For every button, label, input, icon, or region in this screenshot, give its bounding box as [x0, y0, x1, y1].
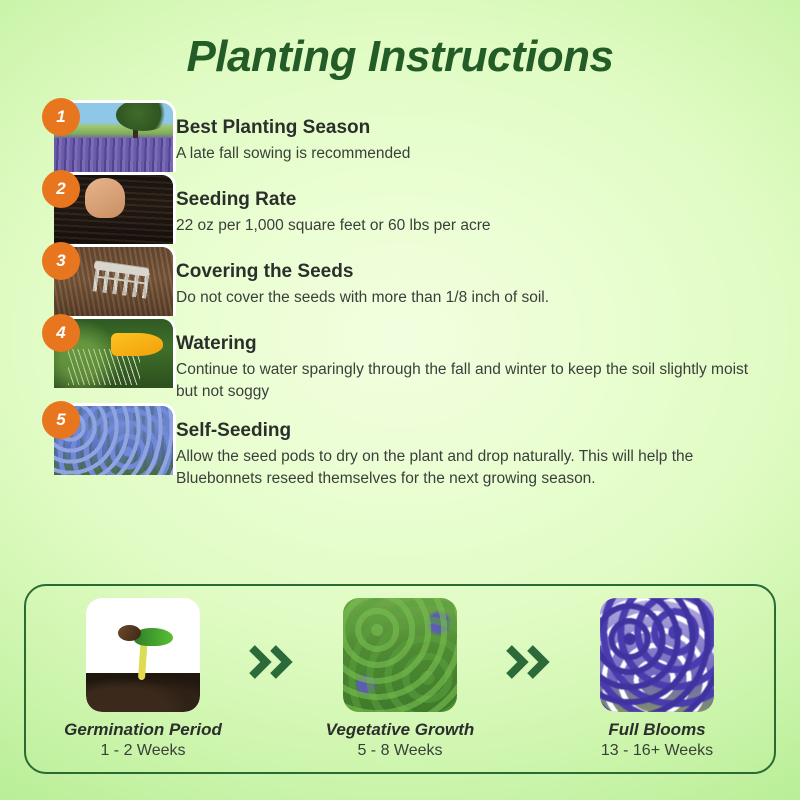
step-text: Self-Seeding Allow the seed pods to dry … — [176, 403, 800, 490]
step-description: Continue to water sparingly through the … — [176, 359, 770, 403]
step-thumbnail-wrap: 5 — [0, 403, 176, 475]
step-thumbnail-wrap: 3 — [0, 244, 176, 316]
step-title: Self-Seeding — [176, 419, 770, 443]
timeline-stage-duration: 5 - 8 Weeks — [357, 742, 442, 760]
timeline-stage-duration: 13 - 16+ Weeks — [601, 742, 713, 760]
list-item: 3 Covering the Seeds Do not cover the se… — [0, 244, 800, 316]
timeline-stage-label: Vegetative Growth — [326, 720, 475, 740]
list-item: 4 Watering Continue to water sparingly t… — [0, 316, 800, 403]
step-text: Covering the Seeds Do not cover the seed… — [176, 244, 579, 309]
steps-list: 1 Best Planting Season A late fall sowin… — [0, 100, 800, 490]
timeline-stage-germination: Germination Period 1 - 2 Weeks — [48, 598, 238, 760]
step-title: Best Planting Season — [176, 116, 410, 140]
step-title: Seeding Rate — [176, 188, 491, 212]
step-text: Best Planting Season A late fall sowing … — [176, 100, 440, 165]
step-number-badge: 3 — [42, 242, 80, 280]
step-thumbnail-wrap: 4 — [0, 316, 176, 388]
step-number-badge: 1 — [42, 98, 80, 136]
timeline-stage-duration: 1 - 2 Weeks — [100, 742, 185, 760]
sprouting-seed-photo — [86, 598, 200, 712]
step-description: Do not cover the seeds with more than 1/… — [176, 287, 549, 309]
step-number-badge: 2 — [42, 170, 80, 208]
bluebonnet-blooms-photo — [600, 598, 714, 712]
list-item: 5 Self-Seeding Allow the seed pods to dr… — [0, 403, 800, 490]
page-title: Planting Instructions — [0, 0, 800, 82]
step-text: Seeding Rate 22 oz per 1,000 square feet… — [176, 172, 521, 237]
double-chevron-right-icon — [506, 644, 552, 680]
step-thumbnail-wrap: 1 — [0, 100, 176, 172]
step-description: 22 oz per 1,000 square feet or 60 lbs pe… — [176, 215, 491, 237]
step-thumbnail-wrap: 2 — [0, 172, 176, 244]
timeline-stage-label: Germination Period — [64, 720, 222, 740]
step-text: Watering Continue to water sparingly thr… — [176, 316, 800, 403]
step-number-badge: 4 — [42, 314, 80, 352]
green-bluebonnet-foliage-photo — [343, 598, 457, 712]
timeline-stage-blooms: Full Blooms 13 - 16+ Weeks — [562, 598, 752, 760]
growth-timeline-panel: Germination Period 1 - 2 Weeks Vegetativ… — [24, 584, 776, 774]
step-description: Allow the seed pods to dry on the plant … — [176, 446, 770, 490]
list-item: 2 Seeding Rate 22 oz per 1,000 square fe… — [0, 172, 800, 244]
step-title: Covering the Seeds — [176, 260, 549, 284]
step-number-badge: 5 — [42, 401, 80, 439]
double-chevron-right-icon — [249, 644, 295, 680]
step-title: Watering — [176, 332, 770, 356]
list-item: 1 Best Planting Season A late fall sowin… — [0, 100, 800, 172]
timeline-stage-vegetative: Vegetative Growth 5 - 8 Weeks — [305, 598, 495, 760]
timeline-stage-label: Full Blooms — [608, 720, 705, 740]
step-description: A late fall sowing is recommended — [176, 143, 410, 165]
